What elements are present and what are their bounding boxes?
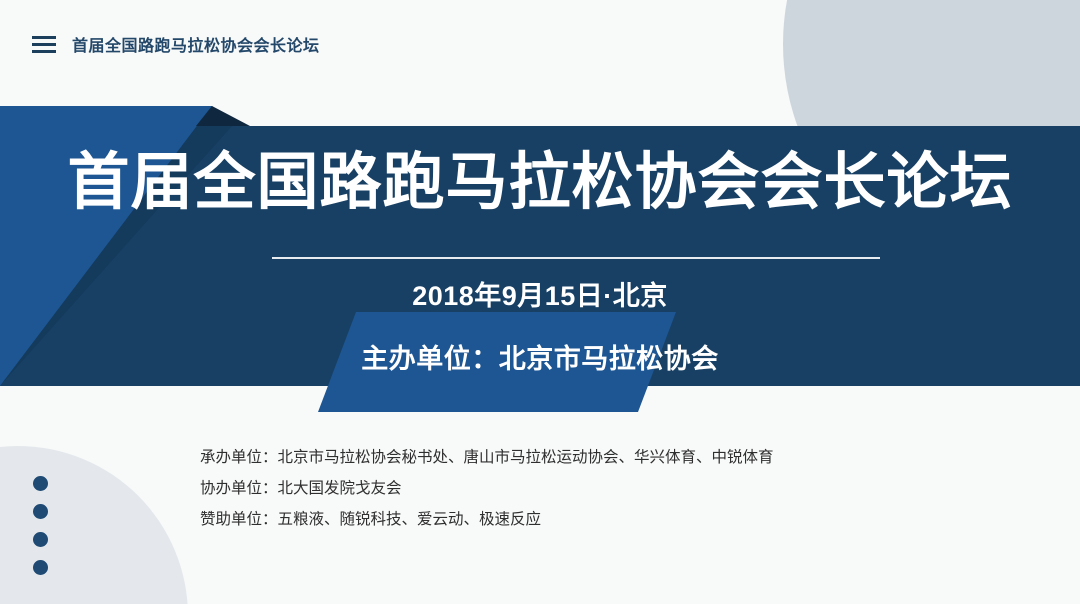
credits-block: 承办单位：北京市马拉松协会秘书处、唐山市马拉松运动协会、华兴体育、中锐体育 协办… xyxy=(200,442,774,535)
credits-line-organizers: 承办单位：北京市马拉松协会秘书处、唐山市马拉松运动协会、华兴体育、中锐体育 xyxy=(200,442,774,473)
credits-line-sponsors: 赞助单位：五粮液、随锐科技、爱云动、极速反应 xyxy=(200,504,774,535)
decorative-dot-column xyxy=(33,476,51,575)
decorative-dot xyxy=(33,560,48,575)
decorative-circle-bottom-left xyxy=(0,446,188,604)
host-organizer-line: 主办单位：北京市马拉松协会 xyxy=(0,337,1080,376)
main-title: 首届全国路跑马拉松协会会长论坛 xyxy=(0,152,1080,214)
event-date: 2018年9月15日·北京 xyxy=(0,274,1080,313)
hamburger-bar xyxy=(32,43,56,46)
slide-root: 首届全国路跑马拉松协会会长论坛 首届全国路跑马拉松协会会长论坛 2018年9月1… xyxy=(0,0,1080,604)
credits-line-coorganizers: 协办单位：北大国发院戈友会 xyxy=(200,473,774,504)
hamburger-menu-icon[interactable] xyxy=(32,36,56,53)
decorative-dot xyxy=(33,476,48,491)
decorative-dot xyxy=(33,504,48,519)
hamburger-bar xyxy=(32,50,56,53)
decorative-dot xyxy=(33,532,48,547)
title-divider-rule xyxy=(272,257,880,259)
header-title: 首届全国路跑马拉松协会会长论坛 xyxy=(72,32,320,56)
page-header: 首届全国路跑马拉松协会会长论坛 xyxy=(0,0,1080,88)
hamburger-bar xyxy=(32,36,56,39)
banner-text-layer: 首届全国路跑马拉松协会会长论坛 2018年9月15日·北京 主办单位：北京市马拉… xyxy=(0,100,1080,420)
